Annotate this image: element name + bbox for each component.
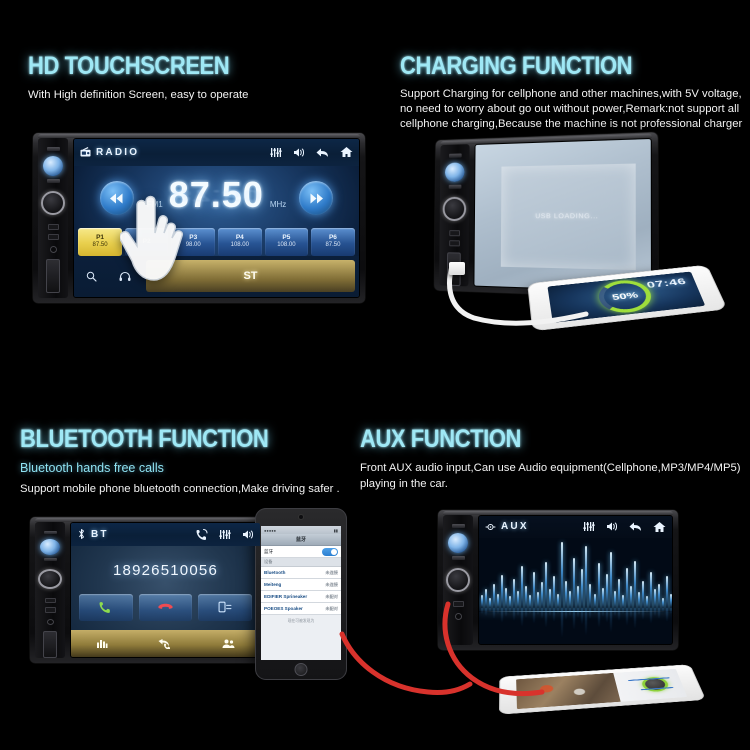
visualizer-bar-reflection — [606, 608, 608, 623]
visualizer-bar — [594, 594, 596, 608]
preset-name: P3 — [189, 234, 197, 242]
radio-source-label: RADIO — [96, 147, 139, 158]
tf-card-slot-charging[interactable] — [449, 230, 460, 236]
preset-frequency: 87.50 — [93, 242, 108, 250]
keypad-icon[interactable] — [96, 638, 108, 649]
tf-card-slot[interactable] — [48, 224, 59, 230]
aux-topbar: AUX — [479, 516, 672, 538]
device-row[interactable]: POEOES Spoaker未配对 — [261, 603, 341, 615]
visualizer-bar — [581, 569, 583, 608]
call-icon[interactable] — [196, 529, 208, 540]
visualizer-bar — [569, 591, 571, 608]
visualizer-bar-reflection — [650, 608, 652, 624]
visualizer-bar — [565, 581, 567, 608]
visualizer-bar — [670, 594, 672, 608]
visualizer-bar — [638, 592, 640, 608]
usb-cable-plug — [449, 262, 465, 275]
contacts-icon[interactable] — [222, 638, 235, 649]
usb-loading-text: USB LOADING... — [535, 213, 598, 221]
visualizer-bar — [658, 584, 660, 608]
visualizer-bar — [666, 576, 668, 608]
visualizer-bar — [642, 581, 644, 608]
device-row[interactable]: Bluetooth未连接 — [261, 567, 341, 579]
visualizer-bar — [650, 572, 652, 608]
volume-icon[interactable] — [606, 521, 618, 532]
bluetooth-toggle-switch[interactable] — [322, 548, 338, 556]
visualizer-bar-reflection — [626, 608, 628, 626]
visualizer-bar — [614, 591, 616, 608]
visualizer-bar — [654, 589, 656, 608]
preset-name: P1 — [96, 234, 104, 242]
aux-jack[interactable] — [50, 246, 57, 253]
preset-name: P6 — [329, 234, 337, 242]
radio-bottombar: ST — [74, 256, 359, 297]
usb-slot-charging[interactable] — [449, 240, 460, 246]
aux-red-cable — [438, 600, 558, 710]
visualizer-bar-reflection — [634, 608, 636, 629]
radio-tuner-area: FM1 87.50 MHz 87.50 P187.50P2P398.00P410… — [74, 166, 359, 256]
visualizer-bar — [630, 586, 632, 607]
visualizer-bar-reflection — [658, 608, 660, 619]
visualizer-bar — [598, 563, 600, 607]
headphone-button[interactable] — [108, 271, 142, 282]
visualizer-bar — [602, 588, 604, 608]
visualizer-bar-reflection — [670, 608, 672, 614]
sd-card-slot-bt[interactable] — [43, 631, 57, 658]
aux-body: Front AUX audio input,Can use Audio equi… — [360, 460, 748, 492]
visualizer-bar-reflection — [642, 608, 644, 620]
bluetooth-source-label: BT — [91, 529, 109, 540]
device-list-header: 设备 — [261, 558, 341, 567]
equalizer-icon[interactable] — [583, 521, 595, 532]
answer-call-button[interactable] — [79, 594, 133, 621]
end-call-button[interactable] — [139, 594, 193, 621]
preset-button-p1[interactable]: P187.50 — [78, 228, 122, 256]
visualizer-bar — [662, 598, 664, 608]
visualizer-bar-reflection — [638, 608, 640, 615]
preset-button-p5[interactable]: P5108.00 — [265, 228, 309, 256]
visualizer-bar — [634, 561, 636, 608]
volume-knob-aux[interactable] — [446, 568, 470, 592]
preset-button-p4[interactable]: P4108.00 — [218, 228, 262, 256]
seek-down-button[interactable] — [47, 179, 60, 183]
visualizer-bar-reflection — [561, 608, 563, 638]
visualizer-bar-reflection — [602, 608, 604, 617]
phone-nav-title: 蓝牙 — [261, 534, 341, 546]
visualizer-bar-reflection — [594, 608, 596, 614]
row-label: EDIFIER Sprineaker — [264, 594, 307, 599]
visualizer-bar-reflection — [618, 608, 620, 621]
bluetooth-topbar: BT — [71, 523, 260, 546]
dialed-number: 18926510056 — [71, 562, 260, 579]
visualizer-bar — [626, 568, 628, 608]
preset-button-p3[interactable]: P398.00 — [171, 228, 215, 256]
visualizer-bar-reflection — [577, 608, 579, 618]
visualizer-bar — [606, 574, 608, 608]
equalizer-icon[interactable] — [270, 147, 282, 158]
transfer-audio-button[interactable] — [198, 594, 252, 621]
hd-body: With High definition Screen, easy to ope… — [28, 87, 378, 103]
volume-knob-bt[interactable] — [38, 569, 62, 589]
radio-head-unit: RADIO FM1 — [33, 133, 365, 303]
seek-up-button-charging[interactable] — [449, 153, 462, 157]
call-log-icon[interactable] — [158, 638, 171, 649]
section-hd-touchscreen: HD TOUCHSCREEN With High definition Scre… — [28, 52, 378, 103]
band-label: FM1 — [147, 200, 163, 209]
phone-camera-icon — [299, 515, 303, 519]
charging-screen-inner: USB LOADING... — [501, 164, 636, 270]
row-status: 未配对 — [325, 606, 338, 612]
stereo-indicator[interactable]: ST — [146, 260, 355, 292]
power-button-aux[interactable] — [448, 533, 468, 553]
preset-frequency: 108.00 — [231, 242, 249, 250]
seek-up-button-bt[interactable] — [44, 531, 57, 534]
back-arrow-icon[interactable] — [629, 521, 642, 532]
row-label: 蓝牙 — [264, 549, 273, 555]
bluetooth-toggle-row[interactable]: 蓝牙 — [261, 546, 341, 558]
preset-button-p6[interactable]: P687.50 — [311, 228, 355, 256]
radio-icon — [80, 147, 91, 157]
aux-icon — [485, 522, 496, 532]
device-row[interactable]: Meiteng未连接 — [261, 579, 341, 591]
usb-slot-bt[interactable] — [45, 607, 56, 612]
back-arrow-icon[interactable] — [316, 147, 329, 158]
visualizer-bar-reflection — [666, 608, 668, 622]
bluetooth-device-list: 蓝牙设备Bluetooth未连接Meiteng未连接EDIFIER Sprine… — [261, 546, 341, 615]
section-charging-function: CHARGING FUNCTION Support Charging for c… — [400, 52, 746, 132]
power-button[interactable] — [43, 156, 63, 176]
bluetooth-subtitle: Bluetooth hands free calls — [20, 461, 365, 475]
power-button-charging[interactable] — [445, 162, 465, 182]
visualizer-bar-reflection — [598, 608, 600, 628]
seek-up-button[interactable] — [47, 147, 60, 151]
charging-phone-clock: 07:46 — [645, 276, 688, 290]
home-icon[interactable] — [340, 146, 353, 158]
visualizer-bar-reflection — [630, 608, 632, 618]
section-aux-function: AUX FUNCTION Front AUX audio input,Can u… — [360, 425, 748, 492]
bluetooth-screen[interactable]: BT 18926510056 — [70, 522, 261, 658]
carrier-label: ●●●●● — [264, 528, 276, 533]
hd-title: HD TOUCHSCREEN — [28, 52, 336, 81]
phone-list-footer: 现在可被发现为 — [261, 615, 341, 660]
radio-side-controls — [38, 138, 68, 298]
equalizer-icon[interactable] — [219, 529, 231, 540]
seek-up-button-aux[interactable] — [452, 524, 465, 528]
preset-list: P187.50P2P398.00P4108.00P5108.00P687.50 — [78, 228, 354, 256]
section-bluetooth-function: BLUETOOTH FUNCTION Bluetooth hands free … — [20, 425, 365, 497]
sd-card-slot[interactable] — [46, 259, 60, 293]
row-status: 未连接 — [325, 582, 338, 588]
preset-frequency: 98.00 — [186, 242, 201, 250]
row-label: Bluetooth — [264, 570, 285, 575]
phone-home-button[interactable] — [295, 663, 308, 676]
home-icon[interactable] — [653, 521, 666, 533]
visualizer-bar-reflection — [622, 608, 624, 614]
seek-down-button-bt[interactable] — [44, 558, 57, 561]
bluetooth-title: BLUETOOTH FUNCTION — [20, 425, 324, 454]
visualizer-bar — [589, 584, 591, 608]
preset-button-p2[interactable]: P2 — [125, 228, 169, 256]
preset-frequency: 87.50 — [325, 242, 340, 250]
bluetooth-body: Support mobile phone bluetooth connectio… — [20, 481, 365, 497]
row-status: 未配对 — [325, 594, 338, 600]
scan-search-button[interactable] — [74, 271, 108, 282]
visualizer-bar — [585, 546, 587, 608]
visualizer-bar — [618, 579, 620, 608]
radio-topbar: RADIO — [74, 139, 359, 166]
visualizer-bar — [577, 586, 579, 607]
visualizer-bar — [646, 596, 648, 607]
power-button-bt[interactable] — [40, 539, 60, 555]
visualizer-bar-reflection — [610, 608, 612, 633]
call-action-row — [79, 594, 253, 621]
visualizer-bar — [573, 558, 575, 608]
aux-title: AUX FUNCTION — [360, 425, 701, 454]
charging-title: CHARGING FUNCTION — [400, 52, 704, 81]
bluetooth-side-controls — [35, 522, 65, 658]
phone-screen[interactable]: ●●●●● ▮▮ 蓝牙 蓝牙设备Bluetooth未连接Meiteng未连接ED… — [261, 526, 341, 660]
bluetooth-pairing-phone: ●●●●● ▮▮ 蓝牙 蓝牙设备Bluetooth未连接Meiteng未连接ED… — [255, 508, 347, 680]
visualizer-bar-reflection — [662, 608, 664, 613]
visualizer-bar-reflection — [614, 608, 616, 616]
visualizer-bar-reflection — [565, 608, 567, 620]
row-label: 设备 — [264, 559, 272, 565]
visualizer-bar — [610, 552, 612, 608]
visualizer-bar — [622, 595, 624, 608]
radio-screen[interactable]: RADIO FM1 — [73, 138, 360, 298]
frequency-value: 87.50 — [169, 178, 264, 212]
preset-frequency: 108.00 — [277, 242, 295, 250]
seek-down-button-aux[interactable] — [452, 556, 465, 560]
tf-card-slot-bt[interactable] — [45, 598, 56, 603]
visualizer-bar — [561, 542, 563, 608]
status-clock: ▮▮ — [334, 528, 338, 533]
volume-icon[interactable] — [242, 529, 254, 540]
phone-status-bar: ●●●●● ▮▮ — [261, 526, 341, 534]
volume-knob-charging[interactable] — [443, 197, 467, 221]
device-row[interactable]: EDIFIER Sprineaker未配对 — [261, 591, 341, 603]
visualizer-bar-reflection — [654, 608, 656, 616]
bluetooth-head-unit: BT 18926510056 — [30, 517, 266, 663]
usb-slot[interactable] — [48, 234, 59, 240]
preset-name: P5 — [282, 234, 290, 242]
row-status: 未连接 — [325, 570, 338, 576]
charging-body: Support Charging for cellphone and other… — [400, 87, 746, 132]
aux-source-label: AUX — [501, 521, 529, 532]
row-label: POEOES Spoaker — [264, 606, 303, 611]
visualizer-bar-reflection — [589, 608, 591, 619]
aux-jack-bt[interactable] — [47, 619, 54, 625]
preset-name: P4 — [236, 234, 244, 242]
visualizer-bar-reflection — [646, 608, 648, 613]
preset-name: P2 — [143, 238, 151, 246]
bluetooth-bottombar — [71, 630, 260, 657]
seek-down-button-charging[interactable] — [448, 185, 461, 189]
volume-icon[interactable] — [293, 147, 305, 158]
row-label: Meiteng — [264, 582, 281, 587]
frequency-unit: MHz — [270, 200, 286, 209]
volume-knob[interactable] — [41, 191, 65, 215]
bluetooth-icon — [77, 528, 86, 540]
